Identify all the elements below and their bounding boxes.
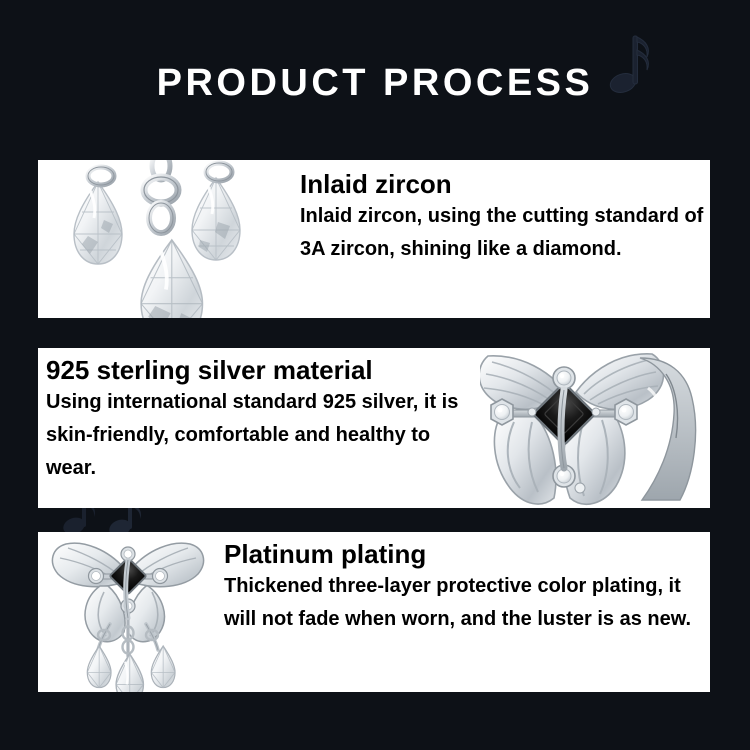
panel-description: Inlaid zircon, using the cutting standar… bbox=[300, 200, 710, 266]
process-panel-inlaid-zircon: Inlaid zircon Inlaid zircon, using the c… bbox=[38, 160, 710, 318]
panel-heading: Inlaid zircon bbox=[300, 168, 710, 200]
product-process-infographic: PRODUCT PROCESS bbox=[0, 0, 750, 750]
panel-description: Thickened three-layer protective color p… bbox=[224, 570, 710, 636]
panel-heading: Platinum plating bbox=[224, 538, 710, 570]
page-title: PRODUCT PROCESS bbox=[0, 60, 750, 106]
process-panel-sterling-silver: 925 sterling silver material Using inter… bbox=[38, 348, 710, 508]
process-panel-platinum-plating: Platinum plating Thickened three-layer p… bbox=[38, 532, 710, 692]
panel-text-block: Inlaid zircon Inlaid zircon, using the c… bbox=[296, 160, 710, 318]
silver-butterfly-closeup-image bbox=[480, 348, 710, 508]
zircon-teardrops-image bbox=[38, 160, 296, 318]
panel-heading: 925 sterling silver material bbox=[46, 354, 480, 386]
panel-text-block: 925 sterling silver material Using inter… bbox=[38, 348, 480, 508]
panel-description: Using international standard 925 silver,… bbox=[46, 386, 480, 485]
panel-text-block: Platinum plating Thickened three-layer p… bbox=[218, 532, 710, 692]
platinum-butterfly-pendant-image bbox=[38, 532, 218, 692]
